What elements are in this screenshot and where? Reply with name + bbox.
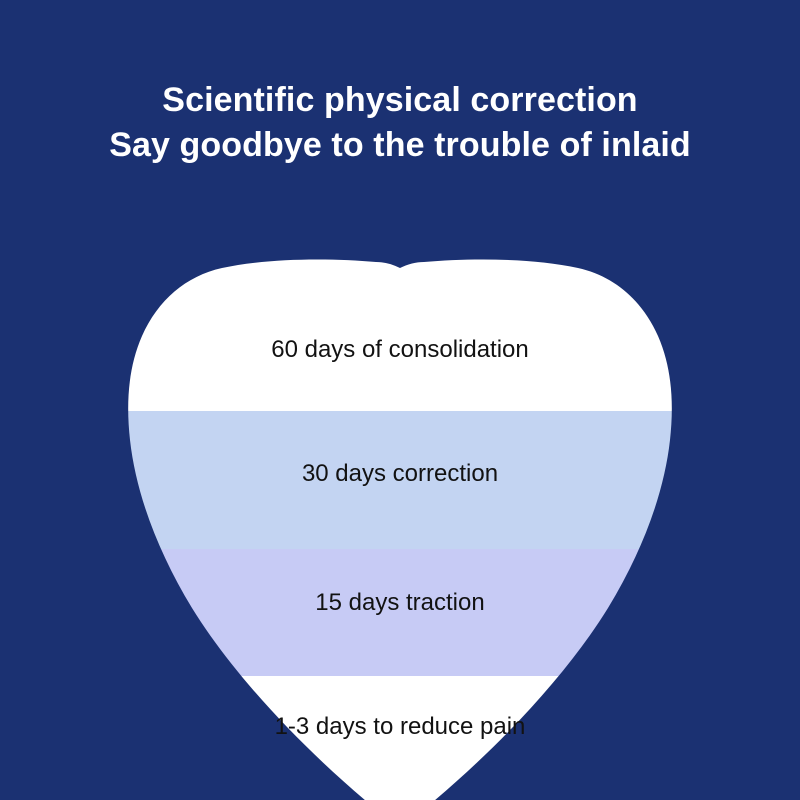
heart-shield-diagram: [0, 0, 800, 800]
band-fill-consolidation: [0, 240, 800, 411]
band-label-consolidation: 60 days of consolidation: [0, 338, 800, 362]
band-label-reduce-pain: 1-3 days to reduce pain: [0, 715, 800, 739]
band-label-correction: 30 days correction: [0, 462, 800, 486]
poster-canvas: Scientific physical correction Say goodb…: [0, 0, 800, 800]
band-label-traction: 15 days traction: [0, 591, 800, 615]
heart-shield-svg: [0, 0, 800, 800]
